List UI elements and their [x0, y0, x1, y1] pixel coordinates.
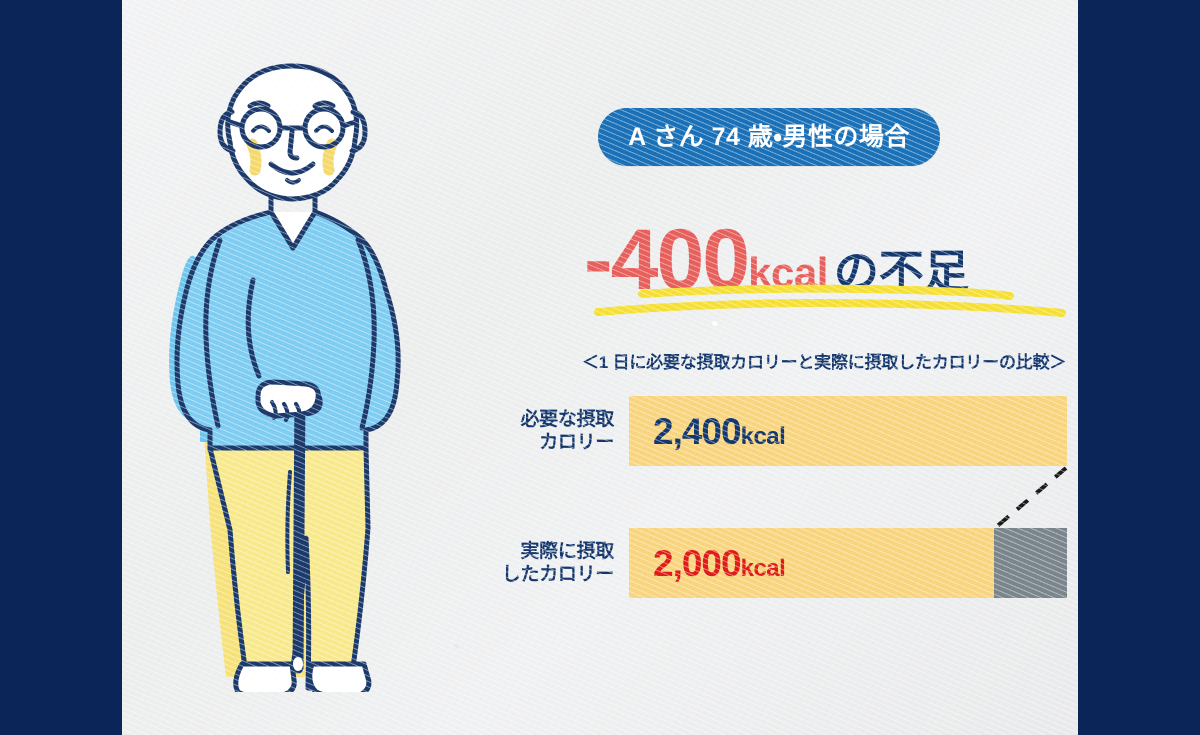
comparison-subtitle: ＜1 日に必要な摂取カロリーと実際に摂取したカロリーの比較＞ [582, 348, 1078, 373]
bar-fill-actual: 2,000kcal [629, 528, 994, 598]
bar-value-required: 2,400kcal [653, 413, 785, 450]
headline-unit: kcal [748, 252, 828, 294]
shoe-right [310, 664, 369, 692]
bar-label-required: 必要な摂取 カロリー [472, 408, 614, 454]
content-panel: A さん 74 歳・男性の場合 -400 kcal の不足 ＜1 日に必要な摂取… [122, 0, 1078, 735]
bar-track-required: 2,400kcal [629, 396, 1067, 466]
bar-value-required-number: 2,400 [653, 411, 741, 452]
cane-shaft [298, 392, 300, 668]
subject-badge-label: A さん 74 歳・男性の場合 [628, 125, 910, 150]
deficit-connector-dashed-line [995, 468, 1066, 528]
bar-track-actual: 2,000kcal [629, 528, 1067, 598]
screenshot-root: A さん 74 歳・男性の場合 -400 kcal の不足 ＜1 日に必要な摂取… [0, 0, 1200, 735]
headline-tail: の不足 [834, 249, 969, 294]
bar-row-required: 必要な摂取 カロリー 2,400kcal [472, 396, 1078, 466]
info-column: A さん 74 歳・男性の場合 -400 kcal の不足 ＜1 日に必要な摂取… [472, 0, 1078, 735]
bar-gap-deficit [994, 528, 1067, 598]
cane-tip [293, 657, 303, 671]
bar-row-actual: 実際に摂取 したカロリー 2,000kcal [472, 528, 1078, 598]
headline: -400 kcal の不足 [584, 208, 1078, 300]
bar-label-required-line2: カロリー [472, 431, 614, 454]
bar-value-actual-number: 2,000 [653, 543, 741, 584]
bar-label-actual: 実際に摂取 したカロリー [472, 540, 614, 586]
bar-fill-required: 2,400kcal [629, 396, 1067, 466]
bar-label-actual-line2: したカロリー [472, 563, 614, 586]
headline-number: -400 [584, 221, 748, 300]
bar-value-actual-unit: kcal [741, 555, 786, 582]
illustration-figure [169, 66, 398, 692]
bar-value-required-unit: kcal [741, 423, 786, 450]
bar-label-required-line1: 必要な摂取 [472, 408, 614, 431]
letterbox-right [1078, 0, 1200, 735]
shoe-left [236, 664, 294, 692]
elderly-man-illustration [140, 52, 460, 692]
bar-label-actual-line1: 実際に摂取 [472, 540, 614, 563]
subject-badge: A さん 74 歳・男性の場合 [598, 108, 940, 166]
bar-value-actual: 2,000kcal [653, 545, 785, 582]
letterbox-left [0, 0, 122, 735]
